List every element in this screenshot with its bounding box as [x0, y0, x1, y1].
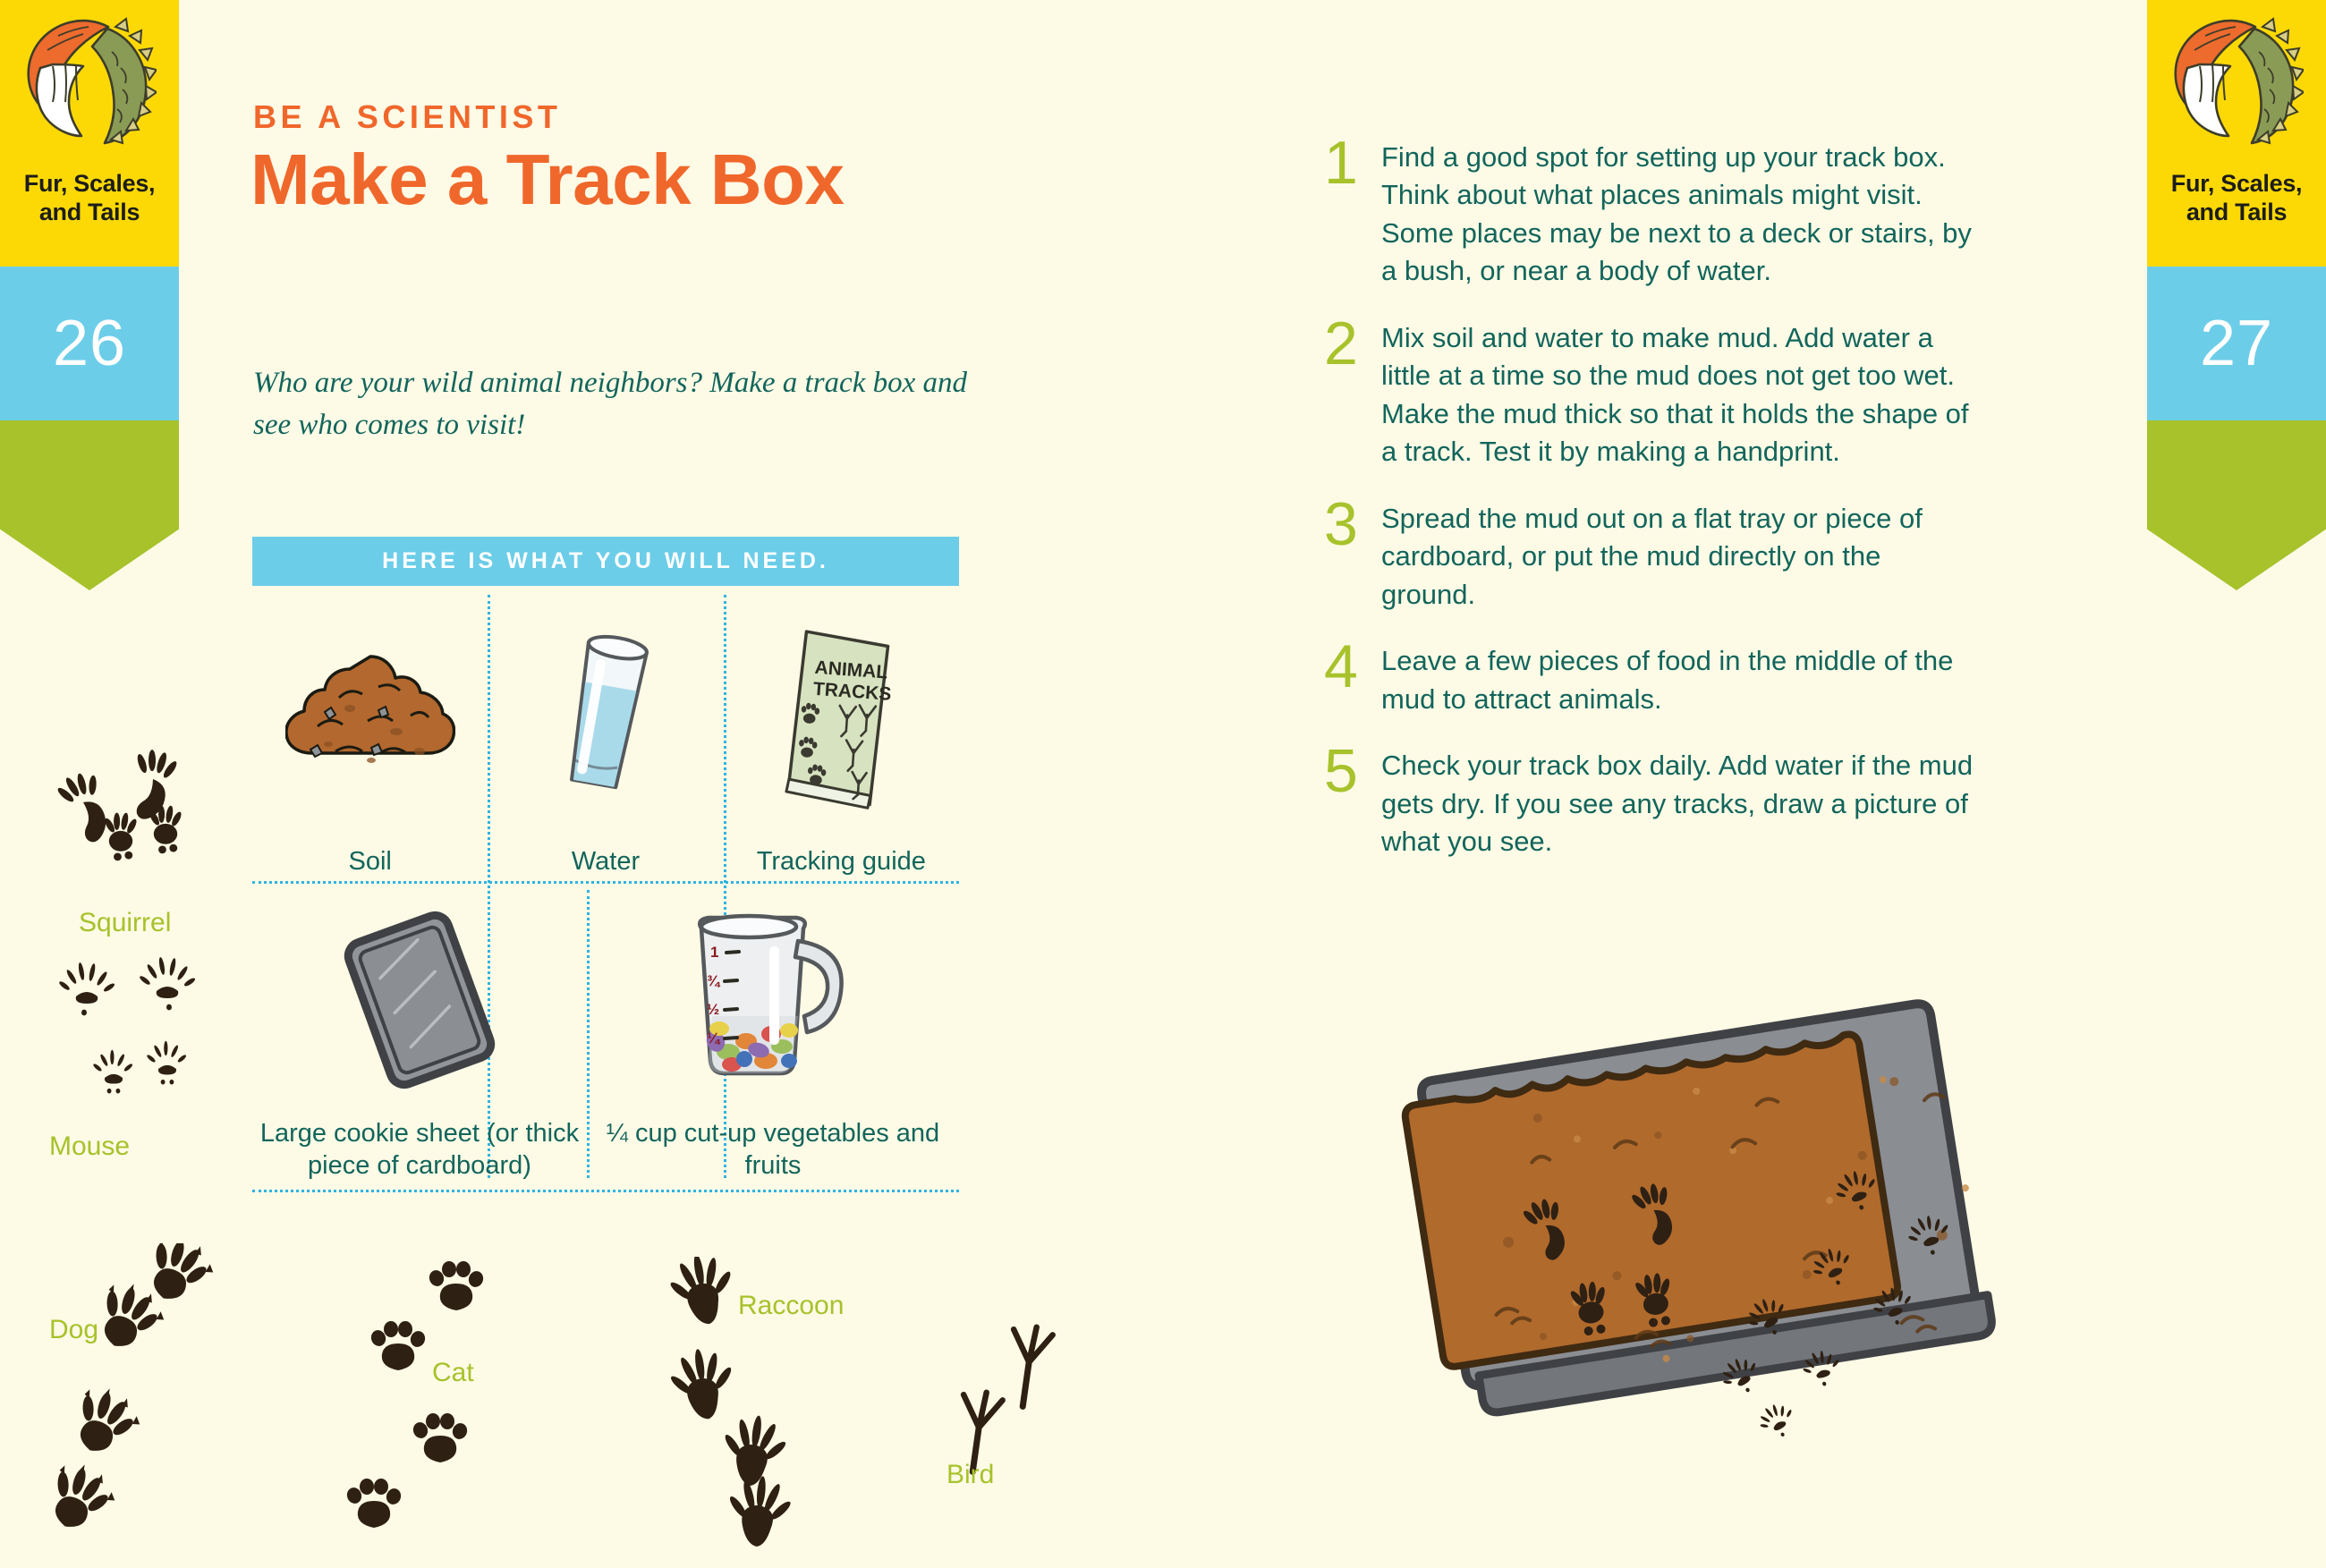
material-label: Tracking guide: [757, 846, 926, 877]
material-item-water: Water: [488, 586, 723, 881]
track-label-squirrel: Squirrel: [79, 908, 171, 938]
glass-of-water-icon: [488, 586, 723, 846]
track-cluster-dog: [36, 1243, 233, 1561]
material-item-soil: Soil: [252, 586, 488, 881]
cup-mark-1: 1: [710, 944, 718, 961]
track-label-mouse: Mouse: [49, 1132, 130, 1162]
step-number: 2: [1324, 319, 1381, 471]
track-label-bird: Bird: [947, 1460, 994, 1490]
instruction-step: 2 Mix soil and water to make mud. Add wa…: [1324, 319, 1977, 471]
material-item-tracking-guide: ANIMAL TRACKS: [724, 586, 959, 881]
step-text: Spread the mud out on a flat tray or pie…: [1381, 500, 1977, 614]
right-page: 1 Find a good spot for setting up your t…: [1163, 0, 2326, 1568]
instruction-step: 5 Check your track box daily. Add water …: [1324, 747, 1977, 860]
material-item-cookie-sheet: Large cookie sheet (or thick piece of ca…: [252, 881, 587, 1185]
step-number: 3: [1324, 500, 1381, 614]
measuring-cup-icon: 1 ¾ ½ ¼: [587, 881, 959, 1118]
cup-mark-quarter: ¼: [707, 1030, 721, 1047]
step-number: 5: [1324, 747, 1381, 860]
material-label: Soil: [348, 846, 391, 877]
step-text: Mix soil and water to make mud. Add wate…: [1381, 319, 1977, 471]
material-label: Large cookie sheet (or thick piece of ca…: [252, 1118, 587, 1182]
page-title: Make a Track Box: [250, 143, 930, 216]
material-label: ¼ cup cut-up vegetables and fruits: [587, 1118, 959, 1182]
step-text: Find a good spot for setting up your tra…: [1381, 139, 1977, 291]
book-spread: Fur, Scales, and Tails 26: [0, 0, 2326, 1568]
step-number: 4: [1324, 642, 1381, 718]
materials-row-1: Soil Wat: [252, 586, 959, 881]
instruction-steps: 1 Find a good spot for setting up your t…: [1324, 139, 1977, 890]
page-deck: Who are your wild animal neighbors? Make…: [253, 362, 969, 446]
track-label-raccoon: Raccoon: [738, 1291, 844, 1321]
material-label: Water: [572, 846, 640, 877]
track-cluster-squirrel: [40, 747, 210, 886]
materials-grid: Soil Wat: [252, 586, 959, 1185]
materials-row-2: Large cookie sheet (or thick piece of ca…: [252, 881, 959, 1185]
soil-pile-icon: [252, 586, 488, 846]
cookie-sheet-icon: [252, 881, 587, 1118]
section-eyebrow: BE A SCIENTIST: [253, 98, 561, 136]
track-cluster-mouse: [49, 948, 210, 1123]
instruction-step: 4 Leave a few pieces of food in the midd…: [1324, 642, 1977, 718]
materials-header-label: HERE IS WHAT YOU WILL NEED.: [382, 548, 829, 574]
instruction-step: 1 Find a good spot for setting up your t…: [1324, 139, 1977, 291]
cup-mark-three-quarters: ¾: [707, 972, 721, 989]
track-label-cat: Cat: [432, 1358, 474, 1388]
mud-tray-with-animal-tracks-icon: [1378, 975, 2058, 1480]
step-text: Check your track box daily. Add water if…: [1381, 747, 1977, 860]
track-label-dog: Dog: [49, 1315, 98, 1345]
step-number: 1: [1324, 139, 1381, 291]
grid-divider-horizontal: [252, 1190, 959, 1192]
cup-mark-half: ½: [707, 1001, 719, 1018]
track-cluster-cat: [331, 1252, 528, 1552]
instruction-step: 3 Spread the mud out on a flat tray or p…: [1324, 500, 1977, 614]
tracking-guide-book-icon: ANIMAL TRACKS: [724, 586, 959, 846]
materials-header-bar: HERE IS WHAT YOU WILL NEED.: [252, 537, 959, 586]
step-text: Leave a few pieces of food in the middle…: [1381, 642, 1977, 718]
left-page: BE A SCIENTIST Make a Track Box Who are …: [0, 0, 1163, 1568]
material-item-measuring-cup: 1 ¾ ½ ¼ ¼ cup cut-up vegetables and fru: [587, 881, 959, 1185]
